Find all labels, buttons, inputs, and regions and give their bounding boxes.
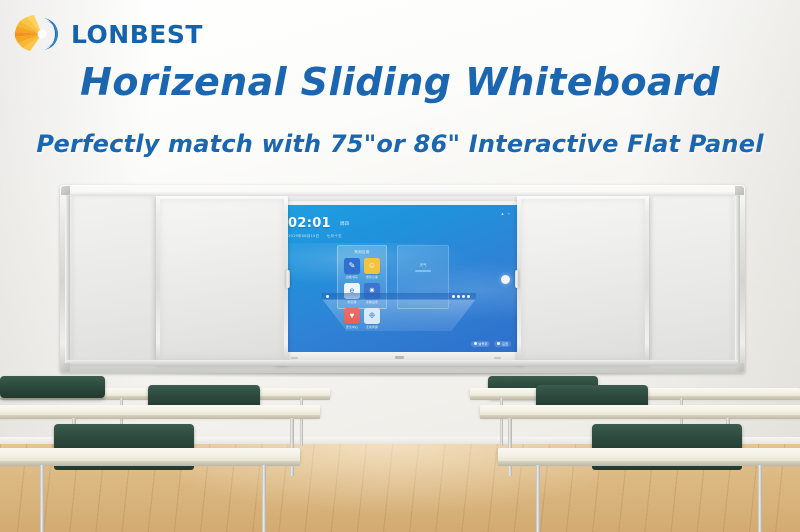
clock-time: 02:01 xyxy=(288,216,331,231)
wallpaper-shape xyxy=(322,299,476,331)
frame-rail-left xyxy=(65,193,70,365)
home-circle-icon[interactable] xyxy=(501,275,510,284)
clock-weekday: 周四 xyxy=(340,222,349,227)
brand-logo: LONBEST xyxy=(12,14,203,54)
frame-corner-bl xyxy=(61,363,70,372)
note-face-icon: ☺ xyxy=(364,258,380,274)
display-taskbar[interactable] xyxy=(322,293,476,300)
weather-widget-bar xyxy=(415,270,431,272)
display-button-settings[interactable]: 设置 xyxy=(494,341,511,347)
source-icon xyxy=(474,342,477,345)
clock-lunar: 七月十五 xyxy=(327,234,342,238)
display-button-settings-label: 设置 xyxy=(502,342,508,346)
page-title: Horizenal Sliding Whiteboard xyxy=(0,60,800,104)
display-brand-logo xyxy=(395,356,404,359)
frame-rail-right xyxy=(735,193,740,365)
sliding-panel-left-surface[interactable] xyxy=(160,199,284,359)
frame-corner-tr xyxy=(735,186,744,195)
slide-handle-right[interactable] xyxy=(515,270,519,288)
frame-rail-bottom xyxy=(67,360,738,366)
display-screen[interactable]: 02:01 周四 2019年08月15日 七月十五 ▲ ⌁ 常用应用 ✎ 白板书 xyxy=(279,205,519,352)
app-notes-label: 便签记事 xyxy=(366,275,378,279)
wifi-icon: ▲ ⌁ xyxy=(501,211,511,216)
shell-fan-logo-icon xyxy=(12,14,64,54)
slide-handle-left[interactable] xyxy=(286,270,290,288)
brand-name: LONBEST xyxy=(71,20,203,49)
clock-date: 2019年08月15日 xyxy=(288,234,319,238)
sliding-whiteboard-assembly: 02:01 周四 2019年08月15日 七月十五 ▲ ⌁ 常用应用 ✎ 白板书 xyxy=(60,185,745,373)
taskbar-dot[interactable] xyxy=(326,295,328,297)
settings-icon xyxy=(497,342,500,345)
bezel-mark-right xyxy=(494,357,501,359)
frame-corner-br xyxy=(735,363,744,372)
app-whiteboard[interactable]: ✎ 白板书写 xyxy=(344,258,360,279)
whiteboard-drop-shadow xyxy=(64,372,742,382)
display-button-bar: 信号源 设置 xyxy=(471,341,511,347)
launcher-title: 常用应用 xyxy=(338,250,386,255)
tray-dot[interactable] xyxy=(452,295,454,297)
fixed-panel-right xyxy=(651,195,733,363)
chair-back-left xyxy=(0,376,105,398)
sliding-panel-left[interactable] xyxy=(156,195,288,363)
display-button-source-label: 信号源 xyxy=(478,342,487,346)
clock-widget: 02:01 周四 2019年08月15日 七月十五 xyxy=(288,212,349,239)
display-button-source[interactable]: 信号源 xyxy=(471,341,491,347)
app-whiteboard-label: 白板书写 xyxy=(346,275,358,279)
taskbar-tray[interactable] xyxy=(452,295,469,297)
frame-corner-tl xyxy=(61,186,70,195)
tray-dot[interactable] xyxy=(457,295,459,297)
fixed-panel-left xyxy=(72,195,154,363)
product-banner: LONBEST Horizenal Sliding Whiteboard Per… xyxy=(0,0,800,532)
tray-dot[interactable] xyxy=(467,295,469,297)
app-notes[interactable]: ☺ 便签记事 xyxy=(364,258,380,279)
weather-widget-title: 天气 xyxy=(398,262,448,267)
sliding-panel-right-surface[interactable] xyxy=(521,199,645,359)
page-subtitle: Perfectly match with 75"or 86" Interacti… xyxy=(0,130,800,158)
tray-dot[interactable] xyxy=(462,295,464,297)
interactive-flat-panel[interactable]: 02:01 周四 2019年08月15日 七月十五 ▲ ⌁ 常用应用 ✎ 白板书 xyxy=(275,201,523,363)
frame-rail-top xyxy=(67,191,738,196)
bezel-mark-left xyxy=(291,357,298,359)
sliding-panel-right[interactable] xyxy=(517,195,649,363)
pencil-write-icon: ✎ xyxy=(344,258,360,274)
